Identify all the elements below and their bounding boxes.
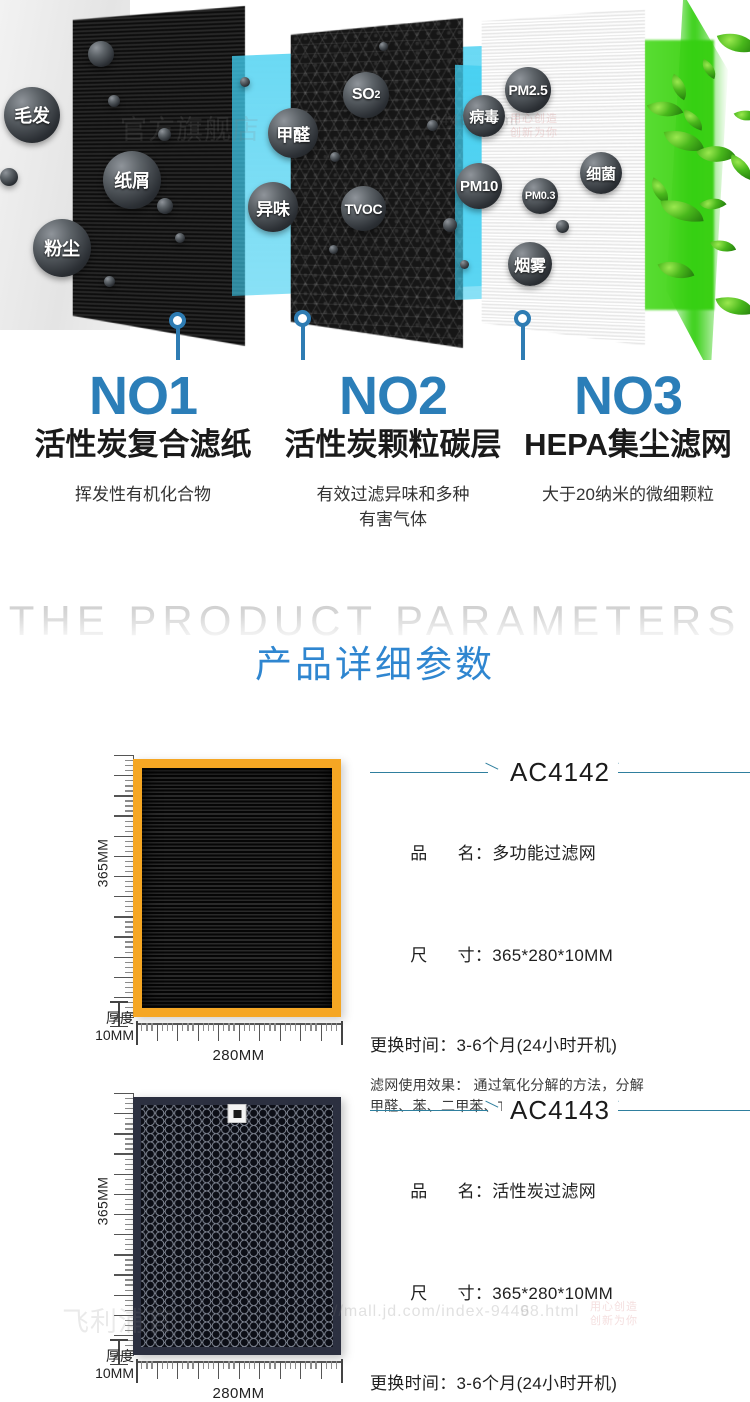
pollutant-bubble: 毛发 (4, 87, 60, 143)
ruler-tick-major (114, 1113, 134, 1114)
section-title-en: THE PRODUCT PARAMETERS (0, 596, 750, 646)
pollutant-bubble: 异味 (248, 182, 298, 232)
ruler-tick-major (114, 1295, 134, 1296)
ruler-tick-major (114, 1335, 134, 1336)
filter-image-ac4142 (133, 759, 341, 1017)
ruler-tick-minor (315, 1023, 316, 1031)
ruler-end-cap (136, 1359, 138, 1383)
ruler-tick-minor (162, 1361, 163, 1369)
ruler-tick-major (300, 1361, 301, 1379)
ruler-tick-major (218, 1361, 219, 1379)
ruler-tick-major (300, 1023, 301, 1041)
spec-rule-right (615, 1110, 750, 1111)
ruler-end-cap (341, 1359, 343, 1383)
ruler-tick-minor (187, 1361, 188, 1369)
ruler-tick-minor (331, 1023, 332, 1031)
spec-rule-left (370, 1110, 488, 1111)
ruler-tick-minor (167, 1023, 168, 1031)
ruler-tick-minor (223, 1023, 224, 1031)
ruler-tick-minor (146, 1361, 147, 1369)
pin-ring-icon (514, 310, 531, 327)
pin-ring-icon (169, 312, 186, 329)
spec-title-row-1: AC4142 (370, 755, 750, 789)
particle-dot (556, 220, 569, 233)
particle-dot (379, 42, 388, 51)
pollutant-bubble: 烟雾 (508, 242, 552, 286)
filter-label-badge (228, 1104, 247, 1123)
layer-label-2: NO2 活性炭颗粒碳层 有效过滤异味和多种 有害气体 (268, 368, 518, 532)
ruler-tick-minor (336, 1361, 337, 1369)
ruler-tick-minor (172, 1023, 173, 1031)
section-title-cn: 产品详细参数 (0, 642, 750, 688)
pollutant-bubble: 病毒 (463, 95, 505, 137)
ruler-tick-minor (290, 1023, 291, 1031)
layer-number-3: NO3 (508, 368, 748, 424)
pin-stem (301, 326, 305, 360)
height-ruler-2 (108, 1093, 134, 1355)
ruler-tick-major (114, 755, 134, 756)
particle-dot (443, 218, 457, 232)
spec-size-row-2: 尺 寸：365*280*10MM (370, 1243, 750, 1345)
ruler-tick-minor (305, 1023, 306, 1031)
ruler-end-cap (341, 1021, 343, 1045)
pin-stem (176, 328, 180, 360)
ruler-tick-major (114, 957, 134, 958)
filter-media-honeycomb (141, 1105, 333, 1347)
spec-rule-right (615, 772, 750, 773)
ruler-tick-major (157, 1023, 158, 1041)
pollutant-bubble: 甲醛 (268, 108, 318, 158)
filter-media-pleated (142, 768, 332, 1008)
ruler-tick-minor (295, 1023, 296, 1031)
layer-desc-3: 大于20纳米的微细颗粒 (508, 482, 748, 507)
width-label-1: 280MM (136, 1047, 341, 1064)
ruler-tick-minor (249, 1361, 250, 1369)
ruler-tick-major (239, 1361, 240, 1379)
pollutant-bubble: PM10 (456, 163, 502, 209)
filter-frame-dark (133, 1097, 341, 1355)
particle-dot (104, 276, 115, 287)
ruler-tick-minor (233, 1361, 234, 1369)
height-label-2: 365MM (94, 1177, 110, 1226)
ruler-tick-minor (295, 1361, 296, 1369)
ruler-tick-major (198, 1361, 199, 1379)
ruler-tick-minor (249, 1023, 250, 1031)
arrow-left-icon (480, 763, 499, 782)
ruler-tick-minor (151, 1361, 152, 1369)
ruler-tick-minor (192, 1361, 193, 1369)
particle-dot (175, 233, 185, 243)
filter-layers-illustration: 官方旗舰店 9440a.html 用心创造 创新为你 毛发纸屑粉尘甲醛异味SO2… (0, 0, 750, 360)
product-detail-page: 官方旗舰店 9440a.html 用心创造 创新为你 毛发纸屑粉尘甲醛异味SO2… (0, 0, 750, 1402)
particle-dot (88, 41, 114, 67)
ruler-tick-minor (326, 1361, 327, 1369)
ruler-tick-minor (274, 1023, 275, 1031)
filter-layer-labels: NO1 活性炭复合滤纸 挥发性有机化合物 NO2 活性炭颗粒碳层 有效过滤异味和… (0, 368, 750, 548)
ruler-tick-major (259, 1023, 260, 1041)
ruler-tick-minor (285, 1023, 286, 1031)
ruler-tick-minor (269, 1023, 270, 1031)
width-ruler-2 (136, 1361, 341, 1383)
ruler-tick-major (114, 876, 134, 877)
ruler-tick-minor (264, 1361, 265, 1369)
ruler-tick-major (114, 795, 134, 796)
spec-size-value-1: 365*280*10MM (492, 946, 613, 965)
product-model-2: AC4143 (502, 1095, 618, 1126)
layer-title-2: 活性炭颗粒碳层 (268, 426, 518, 464)
leaf-icon (734, 104, 750, 127)
ruler-tick-minor (269, 1361, 270, 1369)
product-block-ac4143: 365MM 厚度 10MM 280MM AC4143 品 名：活性炭过滤网 (0, 1093, 750, 1383)
layer-number-1: NO1 (18, 368, 268, 424)
spec-name-row-2: 品 名：活性炭过滤网 (370, 1141, 750, 1243)
spec-name-label-2: 品 名： (410, 1182, 492, 1201)
layer-title-1: 活性炭复合滤纸 (18, 426, 268, 464)
ruler-tick-major (114, 775, 134, 776)
ruler-tick-minor (274, 1361, 275, 1369)
ruler-tick-minor (208, 1361, 209, 1369)
height-label-1: 365MM (94, 839, 110, 888)
ruler-tick-minor (203, 1023, 204, 1031)
ruler-tick-minor (182, 1361, 183, 1369)
layer-desc-2: 有效过滤异味和多种 有害气体 (268, 482, 518, 532)
thickness-label-2: 厚度 10MM (72, 1348, 134, 1382)
ruler-tick-minor (254, 1361, 255, 1369)
leaf-icon (715, 290, 750, 322)
ruler-tick-minor (326, 1023, 327, 1031)
ruler-tick-minor (172, 1361, 173, 1369)
layer-title-3: HEPA集尘滤网 (508, 426, 748, 464)
particle-dot (329, 245, 338, 254)
particle-dot (157, 198, 173, 214)
ruler-tick-minor (310, 1361, 311, 1369)
ruler-tick-major (280, 1361, 281, 1379)
ruler-tick-minor (203, 1361, 204, 1369)
product-model-1: AC4142 (502, 757, 618, 788)
ruler-tick-major (321, 1023, 322, 1041)
ruler-tick-major (114, 977, 134, 978)
spec-title-row-2: AC4143 (370, 1093, 750, 1127)
ruler-tick-minor (233, 1023, 234, 1031)
ruler-tick-minor (310, 1023, 311, 1031)
ruler-tick-major (114, 836, 134, 837)
layer-label-1: NO1 活性炭复合滤纸 挥发性有机化合物 (18, 368, 268, 507)
pollutant-bubble: 细菌 (580, 152, 622, 194)
ruler-tick-major (114, 1274, 134, 1275)
spec-size-value-2: 365*280*10MM (492, 1284, 613, 1303)
width-ruler-1 (136, 1023, 341, 1045)
ruler-tick-major (157, 1361, 158, 1379)
pollutant-bubble: PM0.3 (522, 178, 558, 214)
spec-ac4142: AC4142 品 名：多功能过滤网 尺 寸：365*280*10MM 更换时间：… (370, 755, 750, 1117)
particle-dot (108, 95, 120, 107)
ruler-tick-major (114, 1153, 134, 1154)
leaf-icon (717, 25, 750, 60)
ruler-tick-minor (331, 1361, 332, 1369)
pollutant-bubble: PM2.5 (505, 67, 551, 113)
ruler-tick-minor (285, 1361, 286, 1369)
ruler-tick-major (321, 1361, 322, 1379)
particle-dot (240, 77, 250, 87)
spec-replace-1: 更换时间：3-6个月(24小时开机) (370, 1029, 750, 1063)
ruler-tick-major (114, 1194, 134, 1195)
ruler-tick-major (114, 1214, 134, 1215)
ruler-tick-minor (162, 1023, 163, 1031)
ruler-tick-minor (213, 1361, 214, 1369)
ruler-tick-minor (192, 1023, 193, 1031)
ruler-tick-minor (167, 1361, 168, 1369)
ruler-tick-minor (264, 1023, 265, 1031)
ruler-tick-major (177, 1023, 178, 1041)
pin-ring-icon (294, 310, 311, 327)
ruler-tick-minor (315, 1361, 316, 1369)
pollutant-bubble: 粉尘 (33, 219, 91, 277)
ruler-tick-minor (228, 1361, 229, 1369)
ruler-tick-minor (223, 1361, 224, 1369)
ruler-tick-major (259, 1361, 260, 1379)
ruler-tick-minor (182, 1023, 183, 1031)
ruler-tick-major (177, 1361, 178, 1379)
spec-size-row-1: 尺 寸：365*280*10MM (370, 905, 750, 1007)
filter-frame-orange (133, 759, 341, 1017)
ruler-tick-major (114, 856, 134, 857)
particle-dot (0, 168, 18, 186)
layer-number-2: NO2 (268, 368, 518, 424)
layer-desc-1: 挥发性有机化合物 (18, 482, 268, 507)
width-label-2: 280MM (136, 1385, 341, 1402)
layer-label-3: NO3 HEPA集尘滤网 大于20纳米的微细颗粒 (508, 368, 748, 507)
pollutant-bubble: SO2 (343, 72, 389, 118)
particle-dot (460, 260, 469, 269)
spec-name-value-2: 活性炭过滤网 (492, 1182, 596, 1201)
ruler-tick-minor (305, 1361, 306, 1369)
ruler-end-cap (136, 1021, 138, 1045)
ruler-tick-major (280, 1023, 281, 1041)
badge-glyph-icon (233, 1110, 241, 1118)
ruler-tick-major (114, 916, 134, 917)
ruler-tick-major (114, 1254, 134, 1255)
ruler-tick-major (114, 997, 134, 998)
product-parameters-heading: THE PRODUCT PARAMETERS 产品详细参数 (0, 596, 750, 688)
ruler-tick-major (114, 1093, 134, 1094)
particle-dot (158, 128, 171, 141)
ruler-tick-major (114, 1133, 134, 1134)
product-block-ac4142: 365MM 厚度 10MM 280MM AC4142 品 名：多功能过滤网 尺 (0, 755, 750, 1045)
spec-name-row-1: 品 名：多功能过滤网 (370, 803, 750, 905)
arrow-left-icon (480, 1101, 499, 1120)
ruler-tick-minor (336, 1023, 337, 1031)
ruler-tick-major (114, 815, 134, 816)
particle-dot (330, 152, 340, 162)
spec-replace-2: 更换时间：3-6个月(24小时开机) (370, 1367, 750, 1401)
spec-name-value-1: 多功能过滤网 (492, 844, 596, 863)
height-ruler-1 (108, 755, 134, 1017)
pollutant-bubble: 纸屑 (103, 151, 161, 209)
ruler-tick-minor (187, 1023, 188, 1031)
ruler-tick-major (114, 936, 134, 937)
particle-dot (427, 120, 438, 131)
ruler-tick-minor (146, 1023, 147, 1031)
pollutant-bubble: TVOC (341, 186, 386, 231)
ruler-tick-minor (151, 1023, 152, 1031)
ruler-tick-minor (254, 1023, 255, 1031)
ruler-tick-major (198, 1023, 199, 1041)
ruler-tick-major (114, 896, 134, 897)
ruler-tick-minor (141, 1023, 142, 1031)
thickness-label-1: 厚度 10MM (72, 1010, 134, 1044)
pin-stem (521, 326, 525, 360)
ruler-tick-minor (228, 1023, 229, 1031)
ruler-tick-minor (244, 1023, 245, 1031)
ruler-tick-minor (141, 1361, 142, 1369)
ruler-tick-minor (290, 1361, 291, 1369)
ruler-tick-major (114, 1234, 134, 1235)
spec-size-label-2: 尺 寸： (410, 1284, 492, 1303)
ruler-tick-major (218, 1023, 219, 1041)
filter-layer-2-carbon-honeycomb (291, 18, 463, 348)
spec-ac4143: AC4143 品 名：活性炭过滤网 尺 寸：365*280*10MM 更换时间：… (370, 1093, 750, 1402)
ruler-tick-minor (244, 1361, 245, 1369)
spec-rule-left (370, 772, 488, 773)
ruler-tick-major (239, 1023, 240, 1041)
filter-image-ac4143 (133, 1097, 341, 1355)
ruler-tick-major (114, 1315, 134, 1316)
ruler-tick-major (114, 1174, 134, 1175)
spec-name-label-1: 品 名： (410, 844, 492, 863)
spec-size-label-1: 尺 寸： (410, 946, 492, 965)
ruler-tick-minor (213, 1023, 214, 1031)
ruler-tick-minor (208, 1023, 209, 1031)
